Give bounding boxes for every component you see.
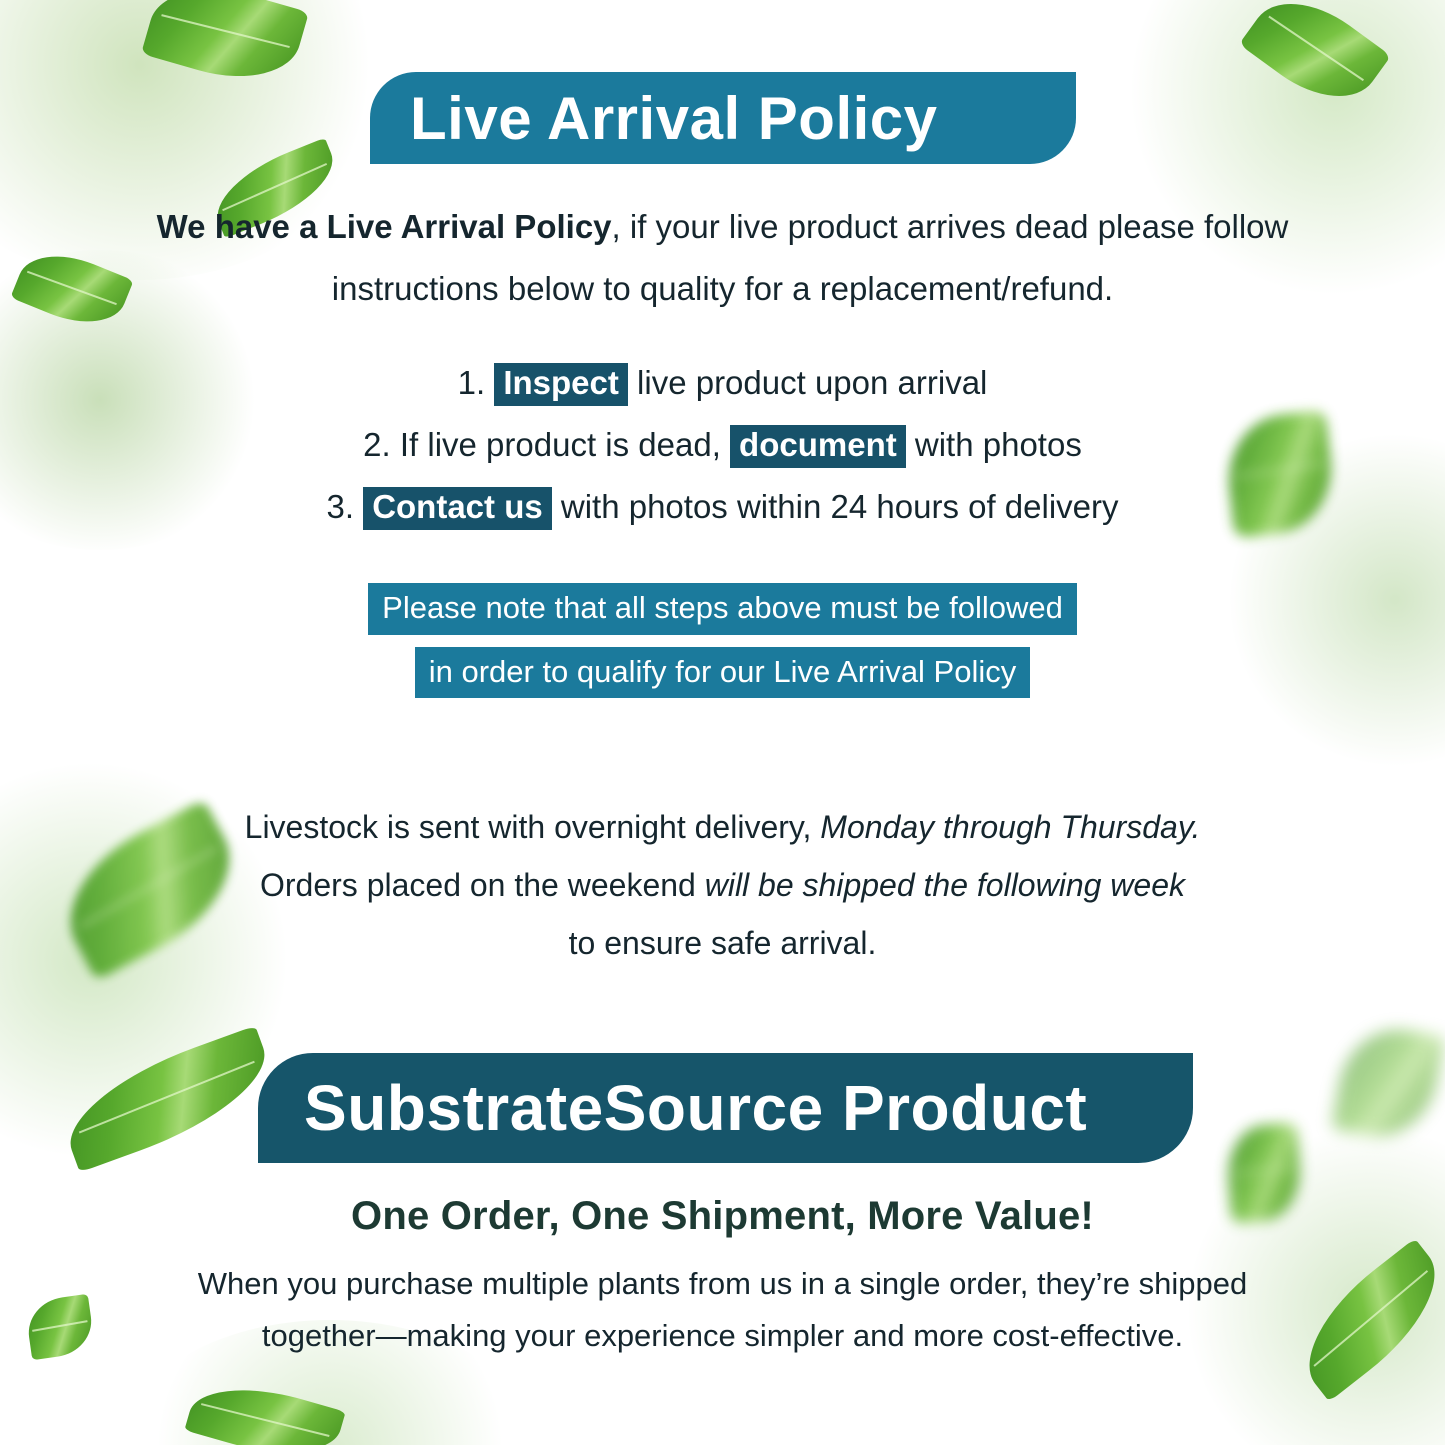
leaf-icon-bottom-right [1282, 1238, 1445, 1401]
shipping-paragraph: Livestock is sent with overnight deliver… [150, 798, 1295, 972]
shipping-line-1: Livestock is sent with overnight deliver… [150, 798, 1295, 856]
leaf-blade [1239, 0, 1391, 121]
leaf-blade [10, 240, 133, 338]
intro-line-1: We have a Live Arrival Policy, if your l… [150, 196, 1295, 258]
shipping-line-2-italic: will be shipped the following week [705, 867, 1185, 903]
value-heading: One Order, One Shipment, More Value! [150, 1194, 1295, 1239]
leaf-icon-top-center [141, 0, 309, 95]
leaf-vein [28, 270, 118, 304]
step-text-after: with photos within 24 hours of delivery [561, 488, 1119, 525]
substratesource-product-banner: SubstrateSource Product [258, 1053, 1193, 1163]
step-keyword: Inspect [494, 363, 628, 406]
policy-note-line-1: Please note that all steps above must be… [368, 583, 1077, 635]
leaf-vein [161, 14, 290, 48]
leaf-icon-bottom-center [184, 1371, 345, 1445]
intro-paragraph: We have a Live Arrival Policy, if your l… [150, 196, 1295, 320]
step-number: 3. [326, 488, 354, 525]
value-line-2: together—making your experience simpler … [150, 1310, 1295, 1362]
shipping-line-3: to ensure safe arrival. [150, 914, 1295, 972]
intro-bold-lead: We have a Live Arrival Policy [157, 208, 612, 245]
step-number: 1. [458, 364, 486, 401]
step-text-after: with photos [915, 426, 1082, 463]
leaf-vein [1232, 1166, 1295, 1175]
substratesource-product-banner-label: SubstrateSource Product [304, 1071, 1087, 1145]
leaf-blade [184, 1371, 345, 1445]
step-keyword: Contact us [363, 487, 552, 530]
leaf-vein [32, 1320, 88, 1332]
leaf-vein [79, 1061, 255, 1134]
shipping-line-1-plain: Livestock is sent with overnight deliver… [245, 809, 821, 845]
intro-line-2: instructions below to quality for a repl… [150, 258, 1295, 320]
policy-note-spacer [150, 635, 1295, 647]
intro-line-1-rest: , if your live product arrives dead plea… [612, 208, 1289, 245]
leaf-icon-left-bottom-small [24, 1294, 95, 1360]
step-text-before: If live product is dead, [400, 426, 721, 463]
shipping-line-1-italic: Monday through Thursday. [820, 809, 1200, 845]
leaf-icon-left-lower [53, 1026, 282, 1173]
leaf-blade [1331, 1021, 1445, 1146]
leaf-vein [1268, 15, 1364, 81]
leaf-icon-right-lower-blurred [1331, 1021, 1445, 1146]
leaf-blade [141, 0, 309, 95]
leaf-vein [1313, 1270, 1428, 1367]
list-item: 3. Contact us with photos within 24 hour… [150, 476, 1295, 538]
step-keyword: document [730, 425, 906, 468]
shipping-line-2: Orders placed on the weekend will be shi… [150, 856, 1295, 914]
live-arrival-policy-infographic: Live Arrival Policy We have a Live Arriv… [0, 0, 1445, 1445]
policy-note-block: Please note that all steps above must be… [150, 583, 1295, 698]
list-item: 1. Inspect live product upon arrival [150, 352, 1295, 414]
step-number: 2. [363, 426, 391, 463]
shipping-line-2-plain: Orders placed on the weekend [260, 867, 705, 903]
value-paragraph: When you purchase multiple plants from u… [150, 1258, 1295, 1362]
leaf-icon-top-right-a [1239, 0, 1391, 121]
leaf-blade [24, 1294, 95, 1360]
value-line-1: When you purchase multiple plants from u… [150, 1258, 1295, 1310]
leaf-icon-left-edge [10, 240, 133, 338]
policy-note-line-2: in order to qualify for our Live Arrival… [415, 647, 1031, 699]
leaf-blade [53, 1026, 282, 1173]
list-item: 2. If live product is dead, document wit… [150, 414, 1295, 476]
leaf-blade [1282, 1238, 1445, 1401]
leaf-vein [201, 1403, 330, 1437]
live-arrival-policy-banner: Live Arrival Policy [370, 72, 1076, 164]
step-text-after: live product upon arrival [637, 364, 987, 401]
steps-list: 1. Inspect live product upon arrival 2. … [150, 352, 1295, 538]
live-arrival-policy-banner-label: Live Arrival Policy [410, 84, 938, 153]
